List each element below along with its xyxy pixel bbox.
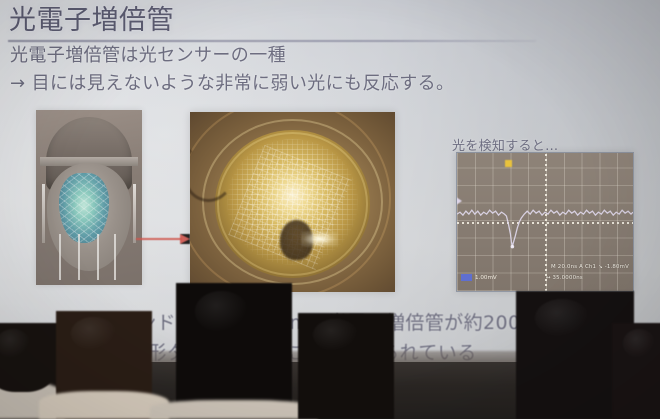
audience-hair-sheen	[313, 319, 357, 351]
tank-highlight	[301, 231, 338, 247]
photo-of-projected-slide: 光電子増倍管 光電子増倍管は光センサーの一種 → 目には見えないような非常に弱い…	[0, 0, 660, 419]
detector-pillar	[97, 234, 99, 280]
figure-oscilloscope: 1.00mV M 20.0ns A Ch1 ↘ -1.80mV ↔ 35.000…	[456, 152, 634, 292]
audience-hair-sheen	[535, 299, 589, 337]
title-underline	[8, 40, 536, 42]
scope-trace	[457, 153, 633, 291]
scope-channel-badge: 1.00mV	[461, 274, 497, 281]
detector-pillar	[78, 234, 80, 280]
red-arrow-icon	[136, 233, 192, 245]
scope-measure-readout: M 20.0ns A Ch1 ↘ -1.80mV	[551, 264, 629, 270]
audience-shoulder	[150, 400, 317, 419]
detector-pillar	[59, 234, 61, 280]
detector-support-left	[42, 184, 45, 244]
audience-head	[612, 323, 660, 419]
audience-head	[176, 283, 292, 419]
channel-color-chip	[461, 274, 472, 281]
slide-subtitle-line-2: → 目には見えないような非常に弱い光にも反応する。	[10, 74, 454, 94]
scope-frequency-readout: ↔ 35.0000ns	[546, 275, 583, 281]
audience-hair-sheen	[195, 291, 248, 332]
scope-vertical-scale: 1.00mV	[475, 275, 497, 281]
arrow-head	[180, 234, 190, 244]
detector-pillar	[114, 234, 116, 280]
figure-kamland-detector-cutaway	[36, 110, 142, 285]
arrow-shaft	[136, 238, 182, 240]
audience-head	[56, 311, 152, 419]
audience-hair-sheen	[71, 317, 115, 349]
audience-hair-sheen	[623, 329, 655, 358]
slide-title: 光電子増倍管	[9, 7, 174, 36]
audience-hair-sheen	[0, 329, 30, 358]
slide-subtitle-line-1: 光電子増倍管は光センサーの一種	[10, 46, 286, 66]
audience-head	[298, 313, 394, 419]
figure-kamland-tank-interior	[190, 112, 395, 292]
